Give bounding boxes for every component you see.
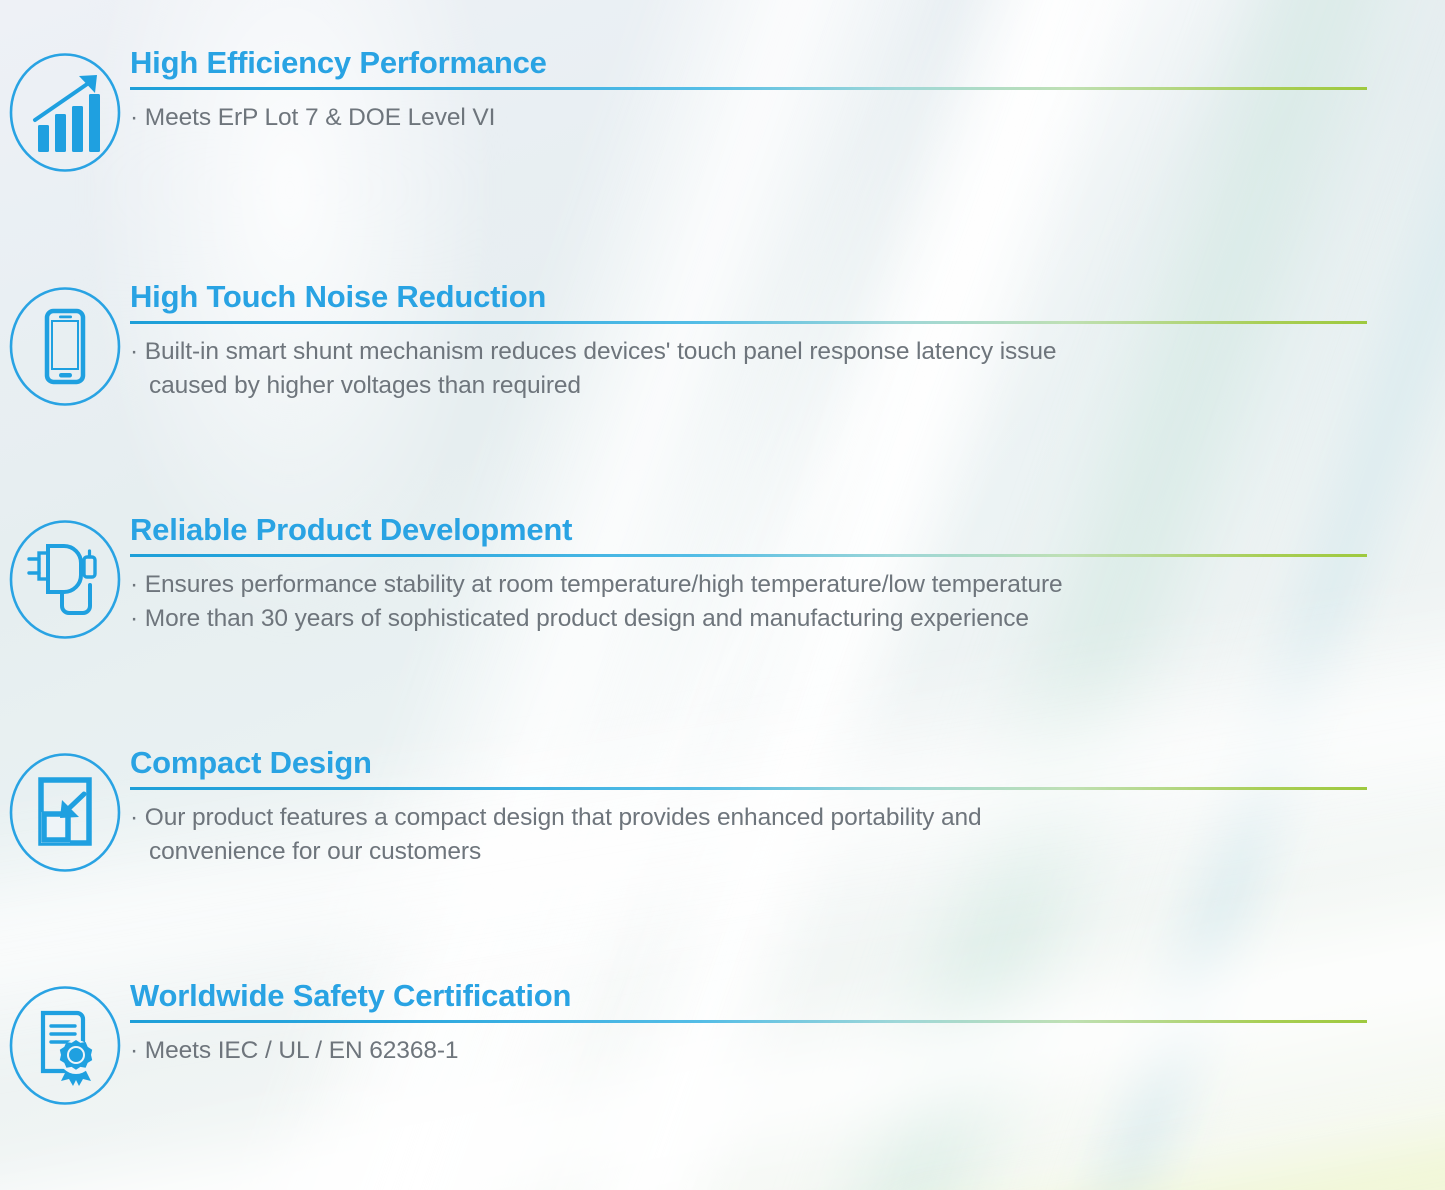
- feature-text-container: Worldwide Safety Certification · Meets I…: [130, 979, 1445, 1068]
- feature-item-reliable-product-development: Reliable Product Development · Ensures p…: [0, 513, 1445, 642]
- feature-text-container: Compact Design · Our product features a …: [130, 746, 1445, 868]
- bullet-text: More than 30 years of sophisticated prod…: [145, 605, 1029, 632]
- feature-icon-container: [0, 513, 130, 642]
- feature-divider: [130, 1020, 1367, 1023]
- feature-divider: [130, 554, 1367, 557]
- feature-highlights-panel: High Efficiency Performance · Meets ErP …: [0, 0, 1445, 1190]
- bullet-text: Meets ErP Lot 7 & DOE Level VI: [145, 104, 496, 131]
- feature-bullet: · Meets ErP Lot 7 & DOE Level VI: [130, 101, 1367, 134]
- feature-title: High Touch Noise Reduction: [130, 280, 1367, 313]
- bullet-text: Meets IEC / UL / EN 62368-1: [145, 1037, 459, 1064]
- bar-chart-growth-icon: [5, 50, 125, 175]
- bullet-marker: ·: [130, 804, 138, 831]
- power-adapter-icon: [5, 517, 125, 642]
- feature-item-worldwide-safety-certification: Worldwide Safety Certification · Meets I…: [0, 979, 1445, 1108]
- bullet-marker: ·: [130, 571, 138, 598]
- feature-text-container: Reliable Product Development · Ensures p…: [130, 513, 1445, 635]
- feature-divider: [130, 787, 1367, 790]
- feature-bullet: · Built-in smart shunt mechanism reduces…: [130, 335, 1367, 402]
- feature-bullet: · Meets IEC / UL / EN 62368-1: [130, 1034, 1367, 1067]
- smartphone-icon: [5, 284, 125, 409]
- feature-item-high-efficiency-performance: High Efficiency Performance · Meets ErP …: [0, 46, 1445, 175]
- bullet-marker: ·: [130, 605, 138, 632]
- bullet-marker: ·: [130, 338, 138, 365]
- feature-title: High Efficiency Performance: [130, 46, 1367, 79]
- feature-title: Compact Design: [130, 746, 1367, 779]
- feature-bullet: · Ensures performance stability at room …: [130, 568, 1367, 601]
- feature-text-container: High Touch Noise Reduction · Built-in sm…: [130, 280, 1445, 402]
- feature-title: Reliable Product Development: [130, 513, 1367, 546]
- bullet-text: Our product features a compact design th…: [145, 804, 982, 831]
- bullet-text-continuation: caused by higher voltages than required: [130, 369, 1367, 402]
- bullet-text: Built-in smart shunt mechanism reduces d…: [145, 338, 1057, 365]
- feature-bullet: · Our product features a compact design …: [130, 801, 1367, 868]
- feature-divider: [130, 87, 1367, 90]
- bullet-marker: ·: [130, 104, 138, 131]
- compact-resize-icon: [5, 750, 125, 875]
- feature-icon-container: [0, 979, 130, 1108]
- feature-icon-container: [0, 280, 130, 409]
- feature-title: Worldwide Safety Certification: [130, 979, 1367, 1012]
- feature-icon-container: [0, 746, 130, 875]
- feature-text-container: High Efficiency Performance · Meets ErP …: [130, 46, 1445, 135]
- certificate-seal-icon: [5, 983, 125, 1108]
- bullet-text: Ensures performance stability at room te…: [145, 571, 1063, 598]
- feature-icon-container: [0, 46, 130, 175]
- feature-divider: [130, 321, 1367, 324]
- feature-item-high-touch-noise-reduction: High Touch Noise Reduction · Built-in sm…: [0, 280, 1445, 409]
- feature-item-compact-design: Compact Design · Our product features a …: [0, 746, 1445, 875]
- bullet-marker: ·: [130, 1037, 138, 1064]
- feature-bullet: · More than 30 years of sophisticated pr…: [130, 602, 1367, 635]
- bullet-text-continuation: convenience for our customers: [130, 835, 1367, 868]
